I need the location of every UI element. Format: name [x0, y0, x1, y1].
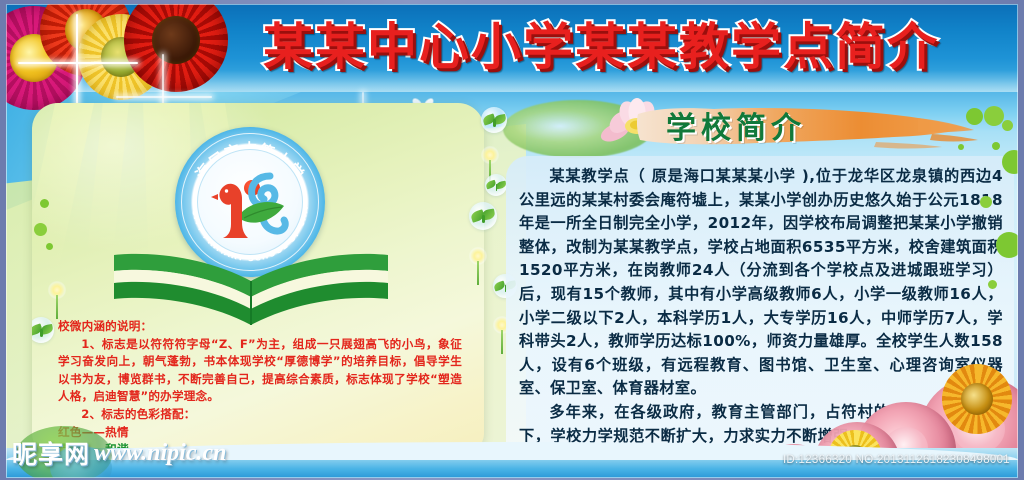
poster-canvas: 某某中心小学某某教学点简介	[6, 4, 1018, 478]
green-dot	[46, 243, 53, 250]
green-dot	[34, 223, 47, 236]
emblem-description-block: 校微内涵的说明： 1、标志是以符符符字母“Z、F”为主，组成一只展翅高飞的小鸟，…	[58, 318, 462, 455]
green-dot	[40, 199, 49, 208]
emblem-description-item-2: 2、标志的色彩搭配：	[58, 406, 462, 424]
green-dot	[984, 106, 1004, 126]
watermark-url-text: www.nipic.cn	[94, 440, 226, 467]
image-id-text: ID:12366320 NO:20131126182308498001	[783, 454, 1010, 466]
page-title: 某某中心小学某某教学点简介	[201, 13, 1001, 83]
green-dot	[996, 232, 1018, 258]
site-watermark: 昵享网 www.nipic.cn	[12, 436, 226, 470]
section-header-title: 学校简介	[666, 110, 806, 148]
sprout-bubble-icon	[481, 107, 507, 133]
green-dot	[988, 280, 997, 289]
sparkle-icon	[18, 62, 138, 64]
sparkle-icon	[116, 96, 212, 98]
green-dot	[980, 196, 992, 208]
open-book-icon	[110, 241, 392, 325]
orange-gerbera-icon	[942, 364, 1012, 434]
poster-root: 某某中心小学某某教学点简介	[0, 0, 1024, 480]
sprout-bubble-icon	[485, 174, 507, 196]
section-header-ribbon: 学校简介	[636, 102, 1011, 158]
left-panel: 海口市占符小学 HAIKOU CITY PRIMARY SCHOOL OF CH…	[32, 103, 484, 455]
green-dot	[1002, 150, 1018, 174]
sprout-bubble-icon	[32, 317, 54, 343]
emblem-description-item-1: 1、标志是以符符符字母“Z、F”为主，组成一只展翅高飞的小鸟，象征学习奋发向上，…	[58, 336, 462, 406]
green-dot	[958, 144, 964, 150]
watermark-cn-text: 昵享网	[12, 435, 90, 471]
sprout-bubble-icon	[469, 202, 497, 230]
emblem-description-heading: 校微内涵的说明：	[58, 318, 462, 336]
emblem-inner-disc	[197, 149, 303, 255]
